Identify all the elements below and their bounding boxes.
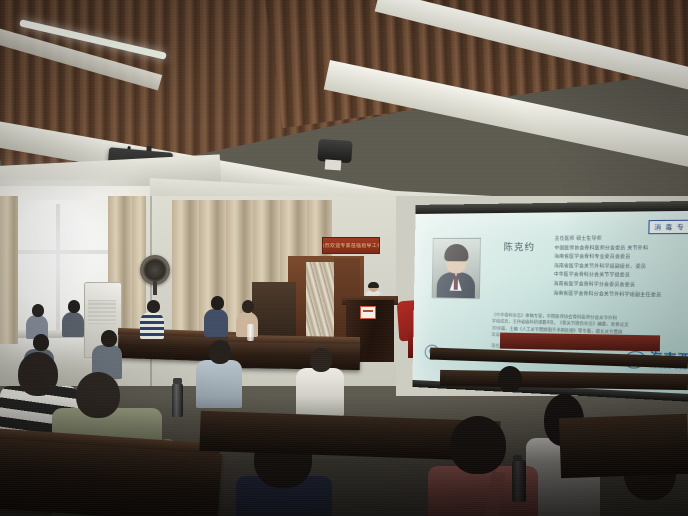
window-mullion-vertical [56, 204, 60, 332]
curtain-left [0, 196, 18, 344]
ceiling-fan-unit [317, 139, 352, 163]
attendee-blue-shirt [196, 340, 242, 406]
attendee-mid-2 [92, 330, 122, 378]
attendee-head [242, 300, 254, 313]
red-plaque-text: 热烈欢迎专家莅临指导工作 [322, 242, 380, 249]
attendee-head [68, 300, 80, 313]
attendee-head [147, 300, 160, 313]
open-doorway [306, 262, 334, 348]
credential-line: 主任医师 硕士生导师 [554, 235, 688, 245]
bench-right-red [500, 333, 660, 352]
attendee-torso [196, 360, 242, 408]
screen-surface: 消 毒 专 家 陈克约 主任医师 硕士生导师 中国医师协会骨科医师分会委员 关节… [412, 211, 688, 395]
attendee-head [33, 334, 49, 351]
credential-line: 中国医师协会骨科医师分会委员 关节外科 [554, 245, 688, 255]
attendee-torso [296, 368, 344, 416]
slide-portrait-photo [432, 238, 481, 299]
attendee-head [76, 372, 120, 418]
attendee-head [209, 340, 231, 364]
credential-line: 海南省医学会骨科分会关节外科学组副主任委员 [553, 290, 688, 302]
attendee-head [32, 304, 44, 317]
attendee-white-shirt-mid [296, 348, 344, 414]
attendee-head [498, 366, 522, 392]
attendee-back-3 [140, 300, 164, 338]
speaker-hair [368, 282, 379, 288]
attendee-torso [62, 312, 84, 337]
thermos-flask [172, 383, 183, 417]
window-mullion-horizontal [10, 250, 110, 254]
slide-credentials-list: 主任医师 硕士生导师 中国医师协会骨科医师分会委员 关节外科 海南省医学会骨科专… [553, 235, 688, 301]
attendee-torso-striped [140, 312, 164, 339]
water-bottle [247, 324, 254, 341]
attendee-torso [204, 309, 228, 337]
attendee-head [310, 348, 332, 372]
podium-placard [360, 306, 376, 319]
red-welcome-plaque: 热烈欢迎专家莅临指导工作 [322, 237, 380, 254]
attendee-head [450, 416, 506, 474]
thermos-flask-right [512, 460, 526, 502]
attendee-back-2 [62, 300, 84, 336]
portrait-hair [444, 244, 468, 261]
portrait-tie [454, 275, 458, 289]
attendee-back-1 [26, 304, 48, 338]
lecture-hall-photo: 热烈欢迎专家莅临指导工作 消 毒 专 家 陈克约 主任医师 硕士生导师 中国医师… [0, 0, 688, 516]
attendee-head [101, 330, 117, 347]
bench-far-right [559, 414, 688, 478]
projection-screen: 消 毒 专 家 陈克约 主任医师 硕士生导师 中国医师协会骨科医师分会委员 关节… [412, 211, 688, 395]
wall-mounted-fan [140, 255, 170, 285]
attendee-back-4 [204, 296, 228, 336]
attendee-head [211, 296, 224, 310]
air-conditioner-grill [88, 300, 116, 324]
slide-speaker-name: 陈克约 [503, 240, 535, 254]
slide-badge: 消 毒 专 家 [648, 220, 688, 235]
